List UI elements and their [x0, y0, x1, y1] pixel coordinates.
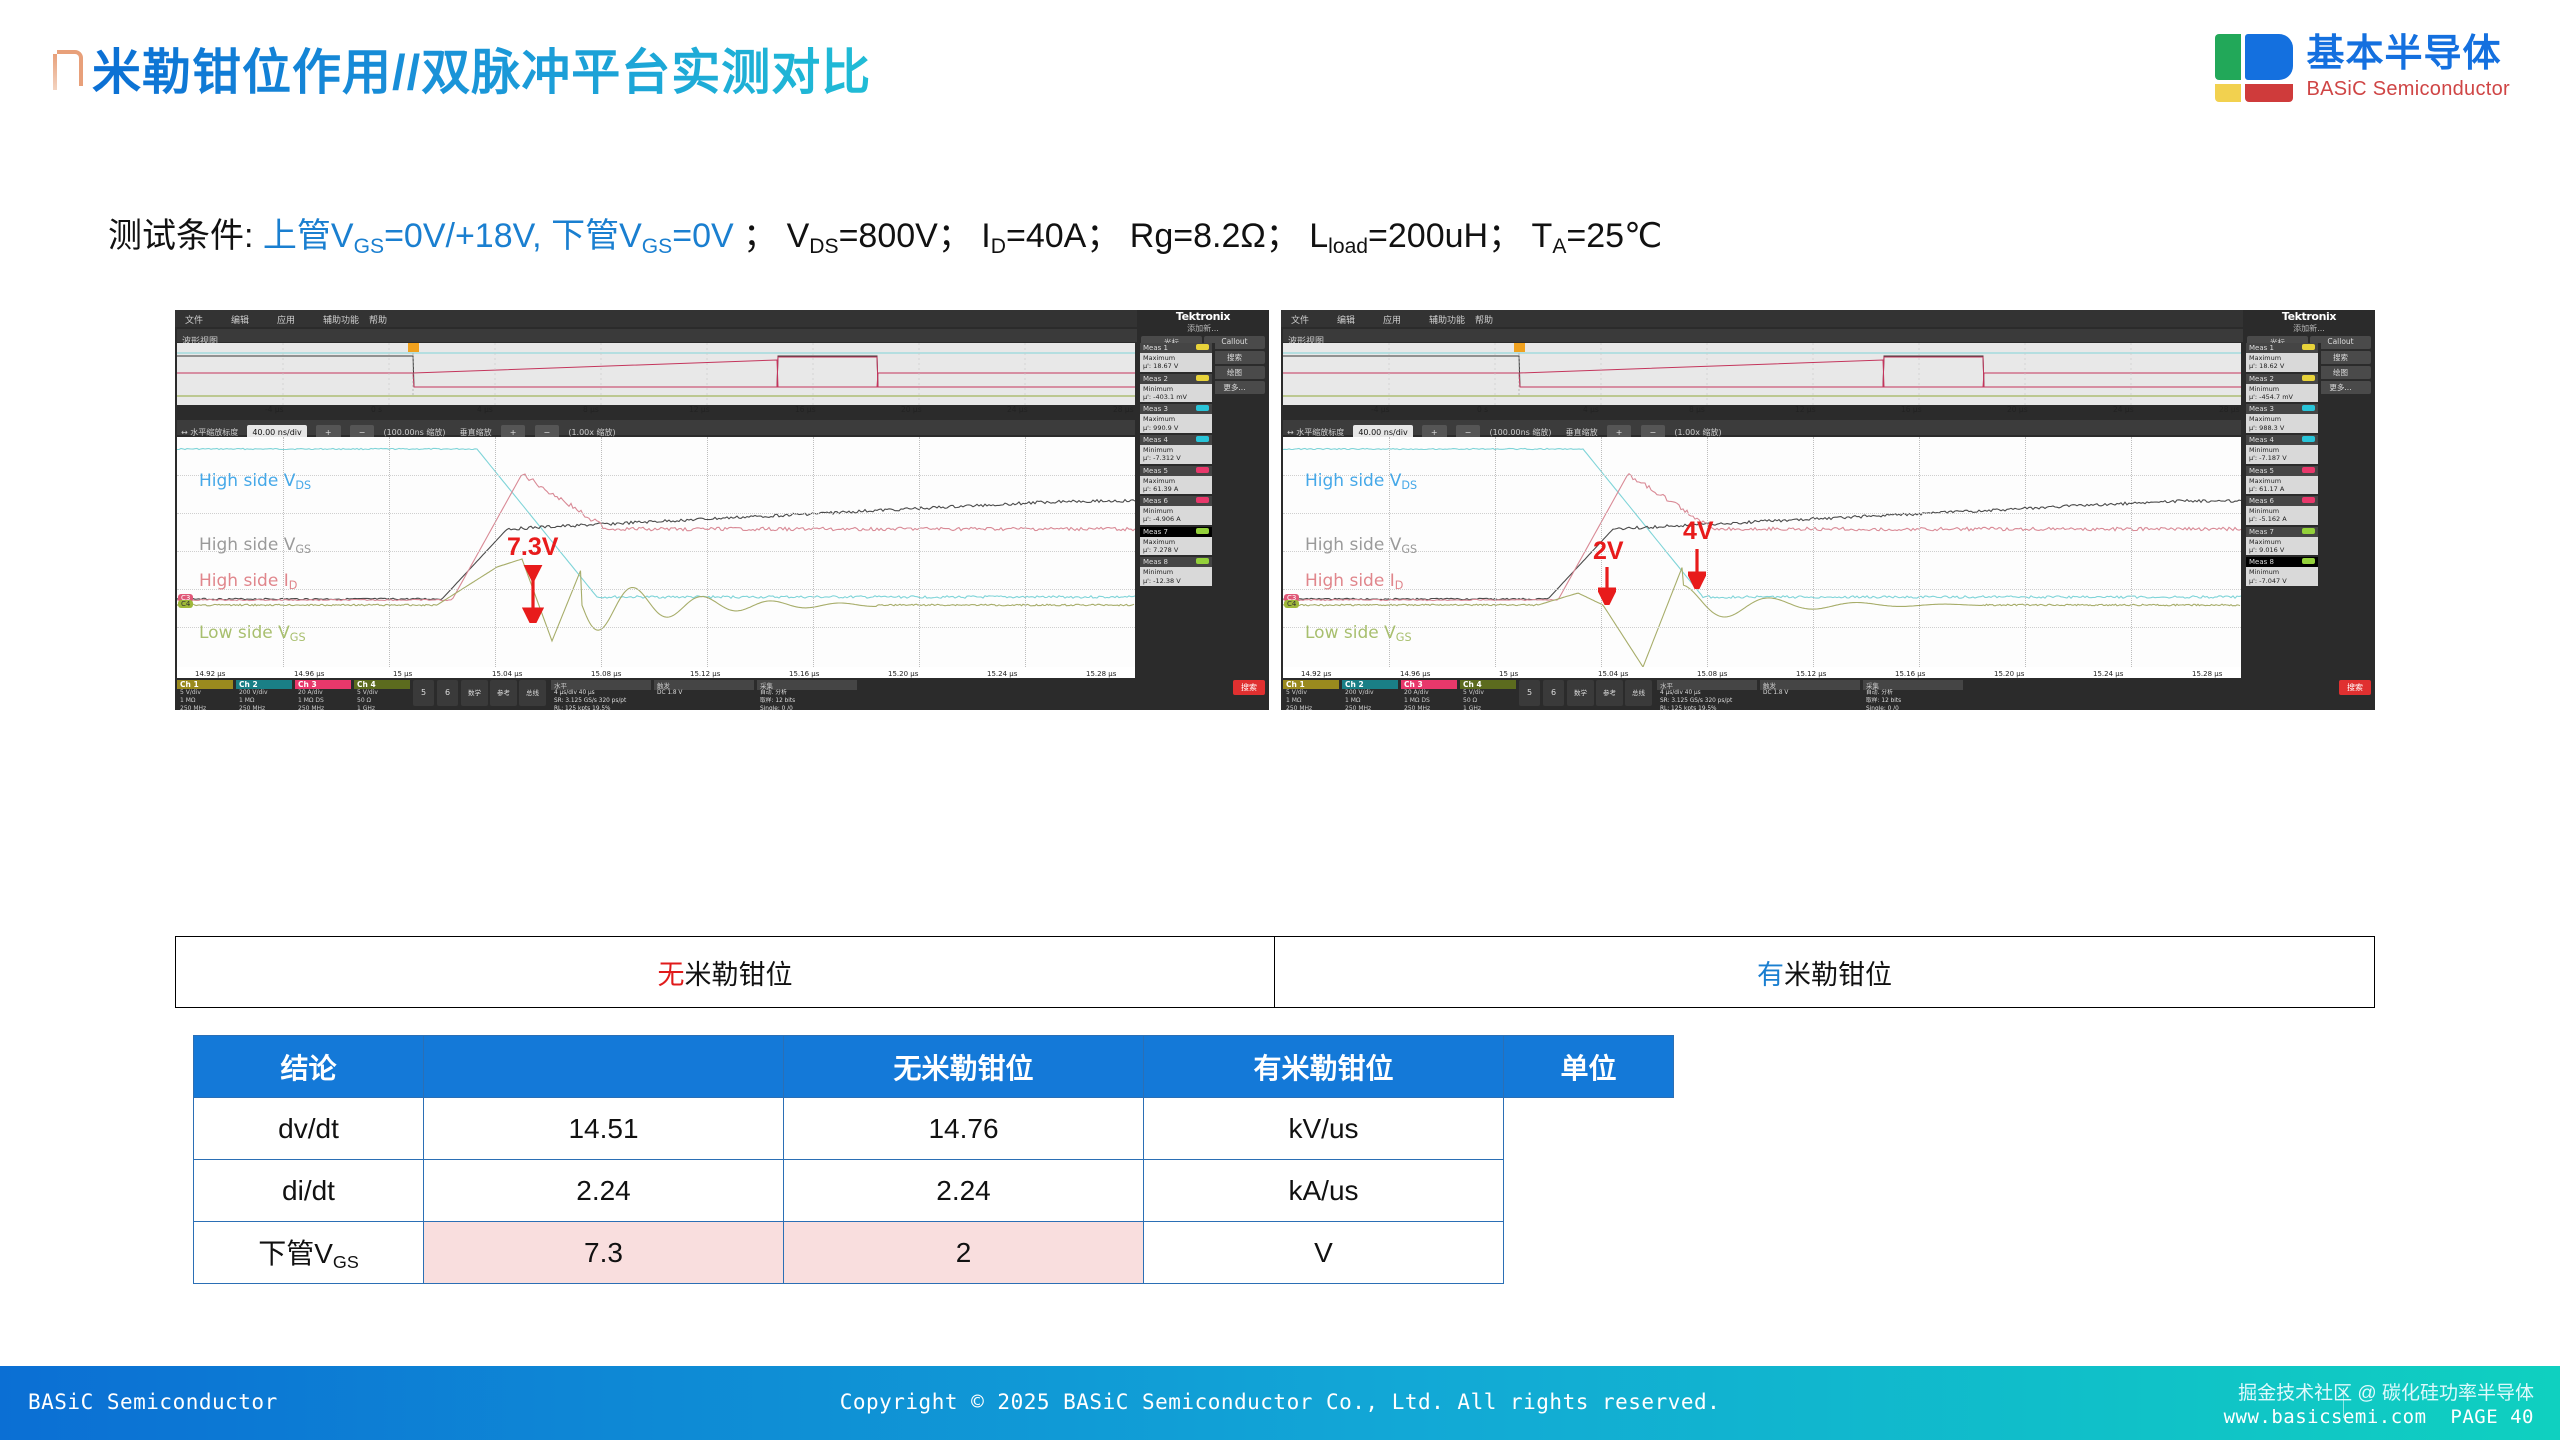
measurement-name: Meas 3 [1140, 404, 1212, 414]
measurement-body: Minimumµ': -4.906 A [1140, 506, 1212, 525]
scope-tool-button[interactable]: 总线 [519, 680, 546, 706]
gridline-vertical [1707, 437, 1708, 667]
measurement-channel-chip [1196, 436, 1209, 442]
measurement-name: Meas 2 [2246, 374, 2318, 384]
measurement-channel-chip [2302, 436, 2315, 442]
scope-menu-item[interactable]: 帮助 [369, 313, 387, 326]
footer-copyright: Copyright © 2025 BASiC Semiconductor Co.… [0, 1390, 2560, 1414]
measurement-card[interactable]: Meas 1Maximumµ': 18.62 V [2246, 343, 2318, 372]
scope-menu-item[interactable]: 帮助 [1475, 313, 1493, 326]
table-col-1: 无米勒钳位 [784, 1036, 1144, 1098]
measurement-body: Minimumµ': -7.047 V [2246, 567, 2318, 586]
overview-tick: 20 µs [901, 405, 922, 414]
conclusion-table: 结论无米勒钳位有米勒钳位单位 dv/dt14.5114.76kV/usdi/dt… [193, 1035, 1674, 1284]
measurement-body: Minimumµ': -403.1 mV [1140, 384, 1212, 403]
table-header-row: 结论无米勒钳位有米勒钳位单位 [194, 1036, 1674, 1098]
condition-item: TA=25℃ [1532, 217, 1663, 255]
gridline-horizontal [177, 475, 1135, 476]
table-cell-with: 2.24 [784, 1160, 1144, 1222]
waveform-label-3: Low side VGS [1305, 623, 1412, 644]
measurement-name: Meas 1 [1140, 343, 1212, 353]
measurement-name: Meas 1 [2246, 343, 2318, 353]
time-tick: 14.96 µs [1400, 670, 1430, 678]
measurement-name: Meas 6 [1140, 496, 1212, 506]
gridline-vertical [919, 437, 920, 667]
scope-panel-right: 文件编辑应用辅助功能帮助Tektronix添加新...光标Callout测量搜索… [1281, 310, 2375, 710]
logo-block-red [2245, 84, 2293, 102]
measurement-channel-chip [1196, 497, 1209, 503]
scope-menubar: 文件编辑应用辅助功能帮助 [175, 310, 1269, 327]
hbar-label-b: 垂直缩放 [1566, 428, 1598, 437]
test-conditions: 测试条件: 上管VGS=0V/+18V, 下管VGS=0V ； VDS=800V… [108, 208, 1662, 259]
table-col-2: 有米勒钳位 [1144, 1036, 1504, 1098]
time-tick: 15.08 µs [591, 670, 621, 678]
measurement-body: Maximumµ': 61.17 A [2246, 476, 2318, 495]
measurement-channel-chip [1196, 405, 1209, 411]
measurement-body: Maximumµ': 18.67 V [1140, 353, 1212, 372]
table-cell-param: dv/dt [194, 1098, 424, 1160]
channel-settings: 5 V/div1 MΩ250 MHz [1283, 689, 1339, 710]
scope-menubar: 文件编辑应用辅助功能帮助 [1281, 310, 2375, 327]
scope-info-card[interactable]: 采集自动. 分析取样: 12 bitsSingle: 0 /0 [1863, 680, 1963, 710]
overview-tick: 24 µs [1007, 405, 1028, 414]
measurement-channel-chip [1196, 528, 1209, 534]
footer-url: www.basicsemi.com [2224, 1406, 2427, 1428]
conditions-prefix: 测试条件: [108, 217, 253, 255]
info-card-title: 采集 [1863, 680, 1963, 690]
channel-settings: 5 V/div50 Ω1 GHz [354, 689, 410, 710]
scope-comparison: 文件编辑应用辅助功能帮助Tektronix添加新...光标Callout测量搜索… [175, 310, 2375, 630]
scope-tool-button[interactable]: 数学 [1567, 680, 1594, 706]
logo-block-green [2215, 34, 2241, 80]
time-tick: 14.92 µs [195, 670, 225, 678]
scope-overview-plot: -4 µs0 s4 µs8 µs12 µs16 µs20 µs24 µs28 µ… [177, 343, 1135, 405]
time-tick: 14.96 µs [294, 670, 324, 678]
table-cell-unit: V [1144, 1222, 1504, 1284]
waveform-label-3: Low side VGS [199, 623, 306, 644]
scope-view-label: 波形视图 [1283, 329, 2243, 342]
rail-title: 添加新... [1137, 323, 1269, 334]
scope-captions: 无米勒钳位 有米勒钳位 [175, 936, 2375, 1008]
overview-tick: 16 µs [1901, 405, 1922, 414]
scope-tool-button[interactable]: 参考 [490, 680, 517, 706]
measurement-card[interactable]: Meas 5Maximumµ': 61.17 A [2246, 466, 2318, 495]
overview-tick: 16 µs [795, 405, 816, 414]
scope-bottom-bar: Ch 15 V/div1 MΩ250 MHzCh 2200 V/div1 MΩ2… [1281, 678, 2375, 710]
time-tick: 15.16 µs [1895, 670, 1925, 678]
measurement-name: Meas 2 [1140, 374, 1212, 384]
gridline-vertical [601, 437, 602, 667]
gridline-vertical [2131, 437, 2132, 667]
table-row: 下管VGS7.32V [194, 1222, 1674, 1284]
table-cell-unit: kA/us [1144, 1160, 1504, 1222]
gridline-vertical [1025, 437, 1026, 667]
condition-item: ID=40A [981, 217, 1086, 255]
gridline-vertical [1495, 437, 1496, 667]
scope-waveform-area[interactable]: High side VDSHigh side VGSHigh side IDLo… [177, 437, 1135, 667]
overview-tick: 12 µs [689, 405, 710, 414]
channel-settings: 200 V/div1 MΩ250 MHz [1342, 689, 1398, 710]
scope-tool-button[interactable]: 参考 [1596, 680, 1623, 706]
measurement-card[interactable]: Meas 8Minimumµ': -7.047 V [2246, 557, 2318, 586]
annotation-1: 4V [1683, 517, 1714, 546]
measurement-card[interactable]: Meas 4Minimumµ': -7.312 V [1140, 435, 1212, 464]
overview-tick: 0 s [371, 405, 382, 414]
logo-block-yellow [2215, 84, 2241, 102]
channel-marker-c4[interactable]: C4 [178, 600, 193, 608]
measurement-channel-chip [1196, 558, 1209, 564]
scope-menu-item[interactable]: 辅助功能 [323, 313, 359, 326]
measurement-channel-chip [1196, 375, 1209, 381]
measurement-card[interactable]: Meas 4Minimumµ': -7.187 V [2246, 435, 2318, 464]
channel-slot-button[interactable]: 6 [437, 680, 458, 706]
gridline-vertical [813, 437, 814, 667]
annotation-arrow-2v [1598, 565, 1616, 605]
measurement-name: Meas 7 [1140, 527, 1212, 537]
channel-slot-button[interactable]: 5 [1519, 680, 1540, 706]
table-body: dv/dt14.5114.76kV/usdi/dt2.242.24kA/us下管… [194, 1098, 1674, 1284]
scope-run-button[interactable]: 搜索 [2339, 680, 2371, 695]
table-row-header: 结论 [194, 1036, 424, 1098]
company-logo: 基本半导体 BASiC Semiconductor [2215, 32, 2510, 104]
caption-right-prefix: 有 [1757, 953, 1784, 992]
overview-tick: 8 µs [1689, 405, 1705, 414]
channel-settings: 20 A/div1 MΩ DS250 MHz [1401, 689, 1457, 710]
measurement-body: Minimumµ': -12.38 V [1140, 567, 1212, 586]
scope-measurements: Meas 1Maximumµ': 18.67 VMeas 2Minimumµ':… [1137, 343, 1215, 678]
measurement-card[interactable]: Meas 7Maximumµ': 7.278 V [1140, 527, 1212, 556]
channel-settings: 200 V/div1 MΩ250 MHz [236, 689, 292, 710]
time-tick: 15.20 µs [888, 670, 918, 678]
conditions-items: ； VDS=800V； ID=40A； Rg=8.2Ω； Lload=200uH… [743, 217, 1662, 255]
gridline-horizontal [1283, 589, 2241, 590]
measurement-card[interactable]: Meas 5Maximumµ': 61.39 A [1140, 466, 1212, 495]
waveform-label-0: High side VDS [199, 471, 311, 492]
annotation-0: 2V [1593, 537, 1624, 566]
hbar-label-b: 垂直缩放 [460, 428, 492, 437]
caption-right-rest: 米勒钳位 [1784, 953, 1892, 992]
gridline-vertical [1919, 437, 1920, 667]
measurement-name: Meas 8 [2246, 557, 2318, 567]
time-tick: 15.12 µs [690, 670, 720, 678]
scope-brand: Tektronix [1137, 310, 1269, 323]
overview-tick: 12 µs [1795, 405, 1816, 414]
scope-menu-item[interactable]: 文件 [185, 313, 203, 326]
gridline-horizontal [1283, 551, 2241, 552]
caption-left-rest: 米勒钳位 [685, 953, 793, 992]
measurement-name: Meas 4 [2246, 435, 2318, 445]
measurement-card[interactable]: Meas 3Maximumµ': 990.9 V [1140, 404, 1212, 433]
measurement-name: Meas 4 [1140, 435, 1212, 445]
caption-right: 有米勒钳位 [1275, 936, 2375, 1008]
overview-tick: 4 µs [1583, 405, 1599, 414]
measurement-card[interactable]: Meas 8Minimumµ': -12.38 V [1140, 557, 1212, 586]
time-tick: 15.04 µs [1598, 670, 1628, 678]
waveform-label-2: High side ID [1305, 571, 1403, 592]
scope-menu-item[interactable]: 文件 [1291, 313, 1309, 326]
channel-card[interactable]: Ch 45 V/div50 Ω1 GHz [1460, 680, 1516, 710]
measurement-body: Maximumµ': 988.3 V [2246, 414, 2318, 433]
time-tick: 15.04 µs [492, 670, 522, 678]
scope-info-card[interactable]: 触发DC 1.8 V [654, 680, 754, 706]
measurement-body: Maximumµ': 7.278 V [1140, 537, 1212, 556]
channel-slot-button[interactable]: 5 [413, 680, 434, 706]
measurement-channel-chip [2302, 375, 2315, 381]
hbar-note-b: (1.00x 缩放) [568, 428, 615, 437]
scope-info-card[interactable]: 水平4 µs/div 40 µsSR: 3.125 GS/s 320 ps/pt… [1657, 680, 1757, 710]
measurement-body: Minimumµ': -7.187 V [2246, 445, 2318, 464]
info-card-body: DC 1.8 V [1760, 690, 1860, 706]
table-row: di/dt2.242.24kA/us [194, 1160, 1674, 1222]
table-cell-without: 2.24 [424, 1160, 784, 1222]
footer-right: 掘金技术社区 @ 碳化硅功率半导体 www.basicsemi.com PAGE… [2224, 1382, 2534, 1430]
time-tick: 15 µs [1499, 670, 1518, 678]
info-card-title: 水平 [1657, 680, 1757, 690]
time-tick: 15.28 µs [2192, 670, 2222, 678]
info-card-body: 4 µs/div 40 µsSR: 3.125 GS/s 320 ps/ptRL… [1657, 690, 1757, 710]
scope-menu-item[interactable]: 应用 [277, 313, 295, 326]
slide-footer: BASiC Semiconductor Copyright © 2025 BAS… [0, 1366, 2560, 1440]
measurement-body: Minimumµ': -454.7 mV [2246, 384, 2318, 403]
overview-tick: 28 µs [1113, 405, 1134, 414]
info-card-body: 4 µs/div 40 µsSR: 3.125 GS/s 320 ps/ptRL… [551, 690, 651, 710]
scope-menu-item[interactable]: 编辑 [231, 313, 249, 326]
scope-tool-button[interactable]: 数学 [461, 680, 488, 706]
measurement-body: Maximumµ': 9.016 V [2246, 537, 2318, 556]
waveform-label-1: High side VGS [1305, 535, 1417, 556]
gridline-vertical [389, 437, 390, 667]
scope-measurements: Meas 1Maximumµ': 18.62 VMeas 2Minimumµ':… [2243, 343, 2321, 678]
condition-item: VDS=800V [787, 217, 938, 255]
scope-horizontal-bar: ↔ 水平缩放标度 40.00 ns/div + − (100.00ns 缩放) … [177, 420, 1135, 435]
info-card-body: 自动. 分析取样: 12 bitsSingle: 0 /0 [757, 690, 857, 710]
table-cell-param: di/dt [194, 1160, 424, 1222]
channel-name: Ch 4 [1460, 680, 1516, 689]
caption-left-prefix: 无 [658, 953, 685, 992]
info-card-title: 采集 [757, 680, 857, 690]
measurement-body: Maximumµ': 18.62 V [2246, 353, 2318, 372]
measurement-channel-chip [2302, 405, 2315, 411]
overview-time-ticks: -4 µs0 s4 µs8 µs12 µs16 µs20 µs24 µs28 µ… [177, 405, 1135, 419]
condition-item: Lload=200uH [1309, 217, 1488, 255]
info-card-title: 触发 [1760, 680, 1860, 690]
gridline-vertical [707, 437, 708, 667]
scope-info-card[interactable]: 触发DC 1.8 V [1760, 680, 1860, 706]
channel-name: Ch 3 [1401, 680, 1457, 689]
gridline-horizontal [1283, 513, 2241, 514]
overview-tick: -4 µs [1371, 405, 1390, 414]
footer-page: PAGE 40 [2450, 1406, 2534, 1428]
measurement-channel-chip [2302, 497, 2315, 503]
scope-run-button[interactable]: 搜索 [1233, 680, 1265, 695]
gridline-vertical [1813, 437, 1814, 667]
overview-tick: 28 µs [2219, 405, 2240, 414]
table-cell-with: 2 [784, 1222, 1144, 1284]
info-card-body: DC 1.8 V [654, 690, 754, 706]
measurement-channel-chip [1196, 344, 1209, 350]
channel-settings: 5 V/div1 MΩ250 MHz [177, 689, 233, 710]
table-cell-with: 14.76 [784, 1098, 1144, 1160]
table-col-3: 单位 [1504, 1036, 1674, 1098]
time-tick: 15.12 µs [1796, 670, 1826, 678]
channel-name: Ch 1 [1283, 680, 1339, 689]
info-card-body: 自动. 分析取样: 12 bitsSingle: 0 /0 [1863, 690, 1963, 710]
gridline-horizontal [177, 589, 1135, 590]
channel-card[interactable]: Ch 15 V/div1 MΩ250 MHz [177, 680, 233, 710]
scope-row: 文件编辑应用辅助功能帮助Tektronix添加新...光标Callout测量搜索… [175, 310, 2375, 710]
time-tick: 15 µs [393, 670, 412, 678]
scope-bottom-bar: Ch 15 V/div1 MΩ250 MHzCh 2200 V/div1 MΩ2… [175, 678, 1269, 710]
measurement-name: Meas 5 [1140, 466, 1212, 476]
annotation-arrow [522, 565, 544, 623]
gridline-horizontal [1283, 475, 2241, 476]
measurement-name: Meas 8 [1140, 557, 1212, 567]
channel-settings: 5 V/div50 Ω1 GHz [1460, 689, 1516, 710]
channel-name: Ch 2 [236, 680, 292, 689]
measurement-body: Maximumµ': 61.39 A [1140, 476, 1212, 495]
gridline-vertical [495, 437, 496, 667]
annotation-0: 7.3V [507, 533, 558, 562]
measurement-name: Meas 6 [2246, 496, 2318, 506]
scope-menu-item[interactable]: 辅助功能 [1429, 313, 1465, 326]
measurement-body: Minimumµ': -7.312 V [1140, 445, 1212, 464]
overview-tick: -4 µs [265, 405, 284, 414]
scope-view-label: 波形视图 [177, 329, 1137, 342]
time-tick: 15.08 µs [1697, 670, 1727, 678]
channel-slot-button[interactable]: 6 [1543, 680, 1564, 706]
table-col-0 [424, 1036, 784, 1098]
title-marker-icon [57, 50, 83, 86]
time-tick: 15.24 µs [2093, 670, 2123, 678]
overview-tick: 20 µs [2007, 405, 2028, 414]
logo-name-en: BASiC Semiconductor [2306, 77, 2510, 101]
scope-info-card[interactable]: 采集自动. 分析取样: 12 bitsSingle: 0 /0 [757, 680, 857, 710]
logo-mark-icon [2215, 34, 2293, 102]
measurement-channel-chip [2302, 467, 2315, 473]
slide-header: 米勒钳位作用//双脉冲平台实测对比 基本半导体 BASiC Semiconduc… [0, 0, 2560, 135]
measurement-card[interactable]: Meas 6Minimumµ': -4.906 A [1140, 496, 1212, 525]
channel-name: Ch 1 [177, 680, 233, 689]
overview-tick: 4 µs [477, 405, 493, 414]
rail-title: 添加新... [2243, 323, 2375, 334]
channel-card[interactable]: Ch 45 V/div50 Ω1 GHz [354, 680, 410, 710]
waveform-label-2: High side ID [199, 571, 297, 592]
hbar-label: ↔ 水平缩放标度 [1287, 428, 1344, 437]
measurement-name: Meas 7 [2246, 527, 2318, 537]
time-tick: 15.24 µs [987, 670, 1017, 678]
table-cell-unit: kV/us [1144, 1098, 1504, 1160]
table-cell-param: 下管VGS [194, 1222, 424, 1284]
scope-menu-item[interactable]: 编辑 [1337, 313, 1355, 326]
time-tick: 15.28 µs [1086, 670, 1116, 678]
channel-card[interactable]: Ch 320 A/div1 MΩ DS250 MHz [1401, 680, 1457, 710]
logo-name-cn: 基本半导体 [2306, 35, 2510, 75]
scope-waveform-area[interactable]: High side VDSHigh side VGSHigh side IDLo… [1283, 437, 2241, 667]
overview-tick: 24 µs [2113, 405, 2134, 414]
scope-overview-plot: -4 µs0 s4 µs8 µs12 µs16 µs20 µs24 µs28 µ… [1283, 343, 2241, 405]
measurement-channel-chip [2302, 344, 2315, 350]
hbar-note-a: (100.00ns 缩放) [1489, 428, 1551, 437]
logo-block-blue [2245, 34, 2293, 80]
measurement-card[interactable]: Meas 7Maximumµ': 9.016 V [2246, 527, 2318, 556]
time-tick: 15.16 µs [789, 670, 819, 678]
channel-name: Ch 3 [295, 680, 351, 689]
gridline-horizontal [177, 627, 1135, 628]
time-tick: 14.92 µs [1301, 670, 1331, 678]
measurement-channel-chip [2302, 528, 2315, 534]
gridline-vertical [2025, 437, 2026, 667]
hbar-note-a: (100.00ns 缩放) [383, 428, 445, 437]
waveform-label-0: High side VDS [1305, 471, 1417, 492]
info-card-title: 水平 [551, 680, 651, 690]
conditions-highlight: 上管VGS=0V/+18V, 下管VGS=0V [263, 217, 743, 255]
measurement-body: Minimumµ': -5.162 A [2246, 506, 2318, 525]
channel-name: Ch 4 [354, 680, 410, 689]
measurement-name: Meas 3 [2246, 404, 2318, 414]
channel-settings: 20 A/div1 MΩ DS250 MHz [295, 689, 351, 710]
channel-card[interactable]: Ch 2200 V/div1 MΩ250 MHz [236, 680, 292, 710]
measurement-body: Maximumµ': 990.9 V [1140, 414, 1212, 433]
channel-name: Ch 2 [1342, 680, 1398, 689]
condition-item: Rg=8.2Ω [1130, 217, 1266, 255]
measurement-card[interactable]: Meas 2Minimumµ': -454.7 mV [2246, 374, 2318, 403]
measurement-name: Meas 5 [2246, 466, 2318, 476]
scope-brand: Tektronix [2243, 310, 2375, 323]
gridline-horizontal [177, 513, 1135, 514]
table-cell-without: 7.3 [424, 1222, 784, 1284]
table-row: dv/dt14.5114.76kV/us [194, 1098, 1674, 1160]
overview-tick: 8 µs [583, 405, 599, 414]
measurement-card[interactable]: Meas 3Maximumµ': 988.3 V [2246, 404, 2318, 433]
time-tick: 15.20 µs [1994, 670, 2024, 678]
overview-tick: 0 s [1477, 405, 1488, 414]
measurement-card[interactable]: Meas 6Minimumµ': -5.162 A [2246, 496, 2318, 525]
table-head: 结论无米勒钳位有米勒钳位单位 [194, 1036, 1674, 1098]
scope-tool-button[interactable]: 总线 [1625, 680, 1652, 706]
overview-time-ticks: -4 µs0 s4 µs8 µs12 µs16 µs20 µs24 µs28 µ… [1283, 405, 2241, 419]
hbar-note-b: (1.00x 缩放) [1674, 428, 1721, 437]
gridline-horizontal [1283, 627, 2241, 628]
annotation-arrow-4v [1688, 547, 1706, 589]
measurement-card[interactable]: Meas 1Maximumµ': 18.67 V [1140, 343, 1212, 372]
channel-marker-c4[interactable]: C4 [1284, 600, 1299, 608]
channel-card[interactable]: Ch 320 A/div1 MΩ DS250 MHz [295, 680, 351, 710]
waveform-label-1: High side VGS [199, 535, 311, 556]
channel-card[interactable]: Ch 2200 V/div1 MΩ250 MHz [1342, 680, 1398, 710]
measurement-channel-chip [2302, 558, 2315, 564]
caption-left: 无米勒钳位 [175, 936, 1275, 1008]
footer-watermark: 掘金技术社区 @ 碳化硅功率半导体 [2224, 1382, 2534, 1406]
gridline-horizontal [177, 551, 1135, 552]
info-card-title: 触发 [654, 680, 754, 690]
page-title: 米勒钳位作用//双脉冲平台实测对比 [92, 33, 871, 104]
scope-menu-item[interactable]: 应用 [1383, 313, 1401, 326]
measurement-card[interactable]: Meas 2Minimumµ': -403.1 mV [1140, 374, 1212, 403]
table-cell-without: 14.51 [424, 1098, 784, 1160]
measurement-channel-chip [1196, 467, 1209, 473]
channel-card[interactable]: Ch 15 V/div1 MΩ250 MHz [1283, 680, 1339, 710]
scope-panel-left: 文件编辑应用辅助功能帮助Tektronix添加新...光标Callout测量搜索… [175, 310, 1269, 710]
hbar-label: ↔ 水平缩放标度 [181, 428, 238, 437]
scope-horizontal-bar: ↔ 水平缩放标度 40.00 ns/div + − (100.00ns 缩放) … [1283, 420, 2241, 435]
scope-info-card[interactable]: 水平4 µs/div 40 µsSR: 3.125 GS/s 320 ps/pt… [551, 680, 651, 710]
